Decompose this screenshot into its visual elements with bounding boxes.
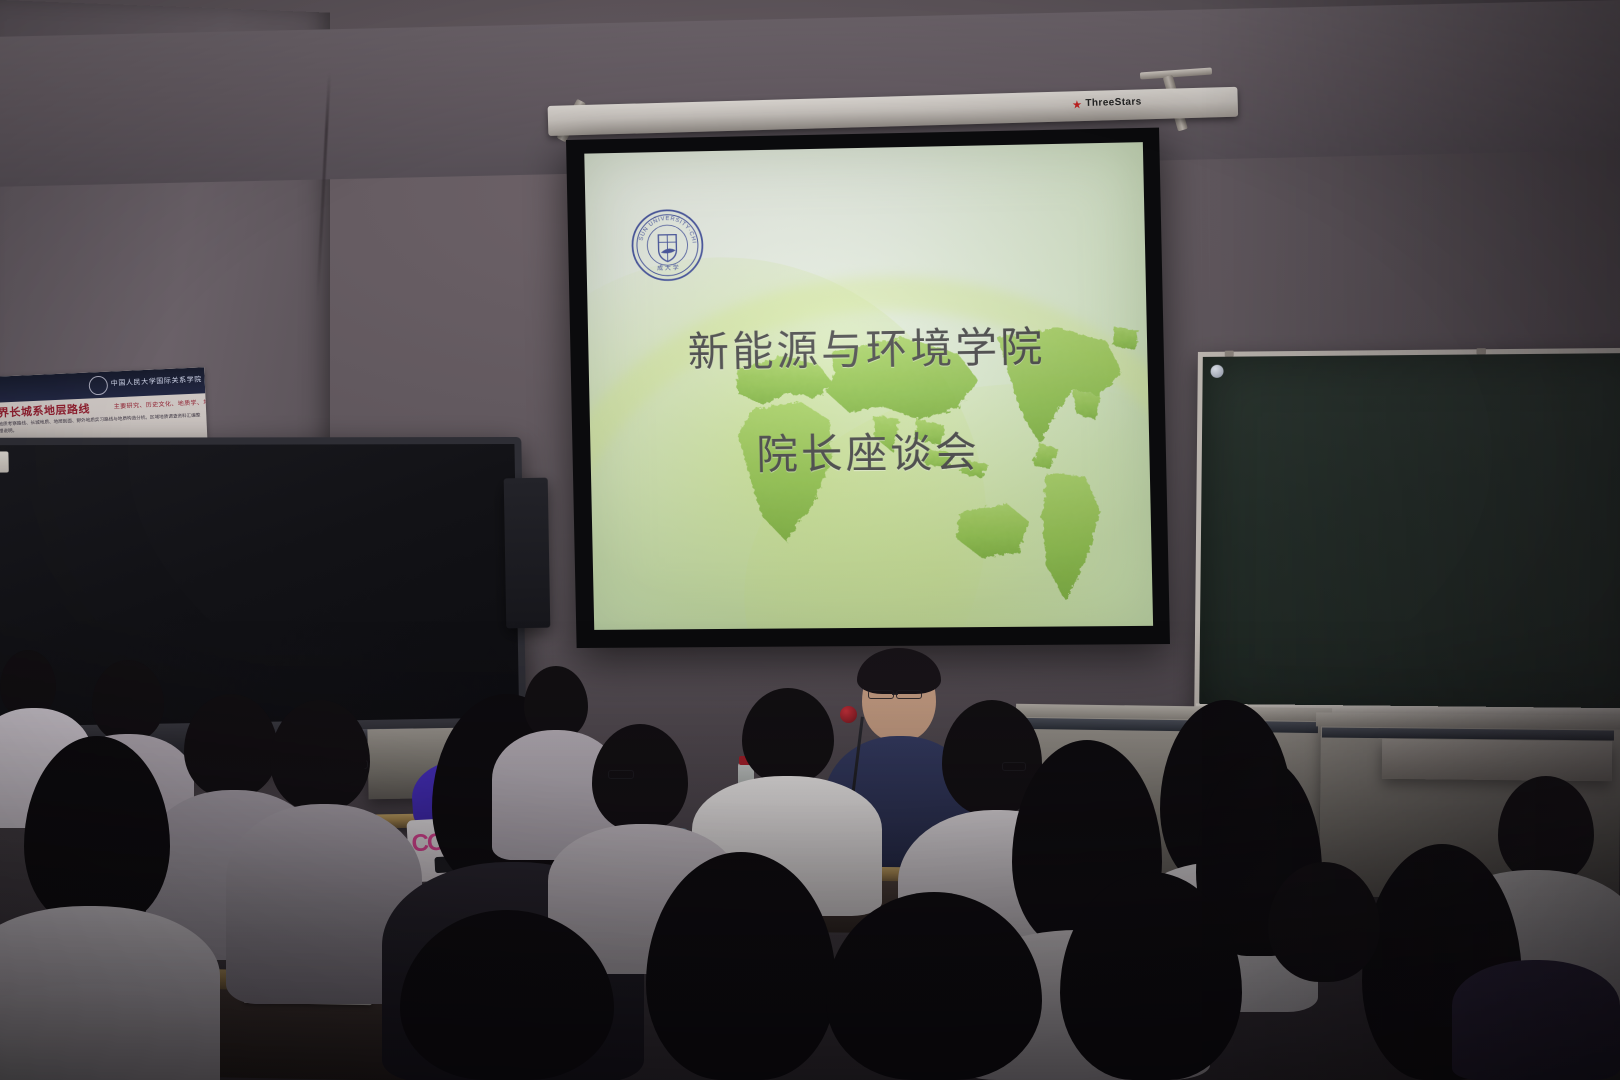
slide-title-block: 新能源与环境学院 院长座谈会 <box>588 325 1150 478</box>
blackboard <box>1194 348 1620 738</box>
presenter-glasses-right-lens <box>896 690 922 699</box>
audience-torso <box>0 984 220 1080</box>
audience-head <box>184 694 278 798</box>
audience-head <box>524 666 588 740</box>
presenter-glasses-bridge <box>892 693 898 695</box>
slide-title-line-2: 院长座谈会 <box>590 430 1150 478</box>
audience-head <box>320 730 366 784</box>
blackboard-clip-left <box>1225 351 1234 357</box>
blackboard-magnet-icon <box>1211 365 1224 378</box>
blackboard-clip-right <box>1476 348 1486 354</box>
audience-torso <box>1452 960 1620 1080</box>
microphone-head-icon <box>840 706 857 723</box>
audience-glasses <box>1002 762 1026 771</box>
audience-head <box>592 724 688 832</box>
classroom-photo: 中国人民大学国际关系学院 界长城系地层路线 主要研究、历史文化、地质学、地层学 … <box>0 0 1620 1080</box>
audience-head <box>92 660 164 742</box>
presenter-glasses-left-lens <box>868 690 894 699</box>
projection-screen: SUN UNIVERSITY·CHINA 成 大 学 新能源与环境学院 院长座谈… <box>566 128 1170 648</box>
svg-text:成 大 学: 成 大 学 <box>657 263 679 271</box>
audience-head <box>1498 776 1594 884</box>
threestars-brand-logo: ThreeStars <box>1085 96 1142 109</box>
slide-title-line-1: 新能源与环境学院 <box>588 325 1148 375</box>
wall-speaker <box>504 478 551 629</box>
audience-head <box>1268 862 1380 982</box>
lectern-desktop-slab <box>1382 739 1612 781</box>
audience-glasses <box>608 770 634 779</box>
display-power-badge: TOUCH <box>0 451 9 472</box>
presentation-slide: SUN UNIVERSITY·CHINA 成 大 学 新能源与环境学院 院长座谈… <box>584 142 1153 630</box>
audience-head <box>742 688 834 784</box>
